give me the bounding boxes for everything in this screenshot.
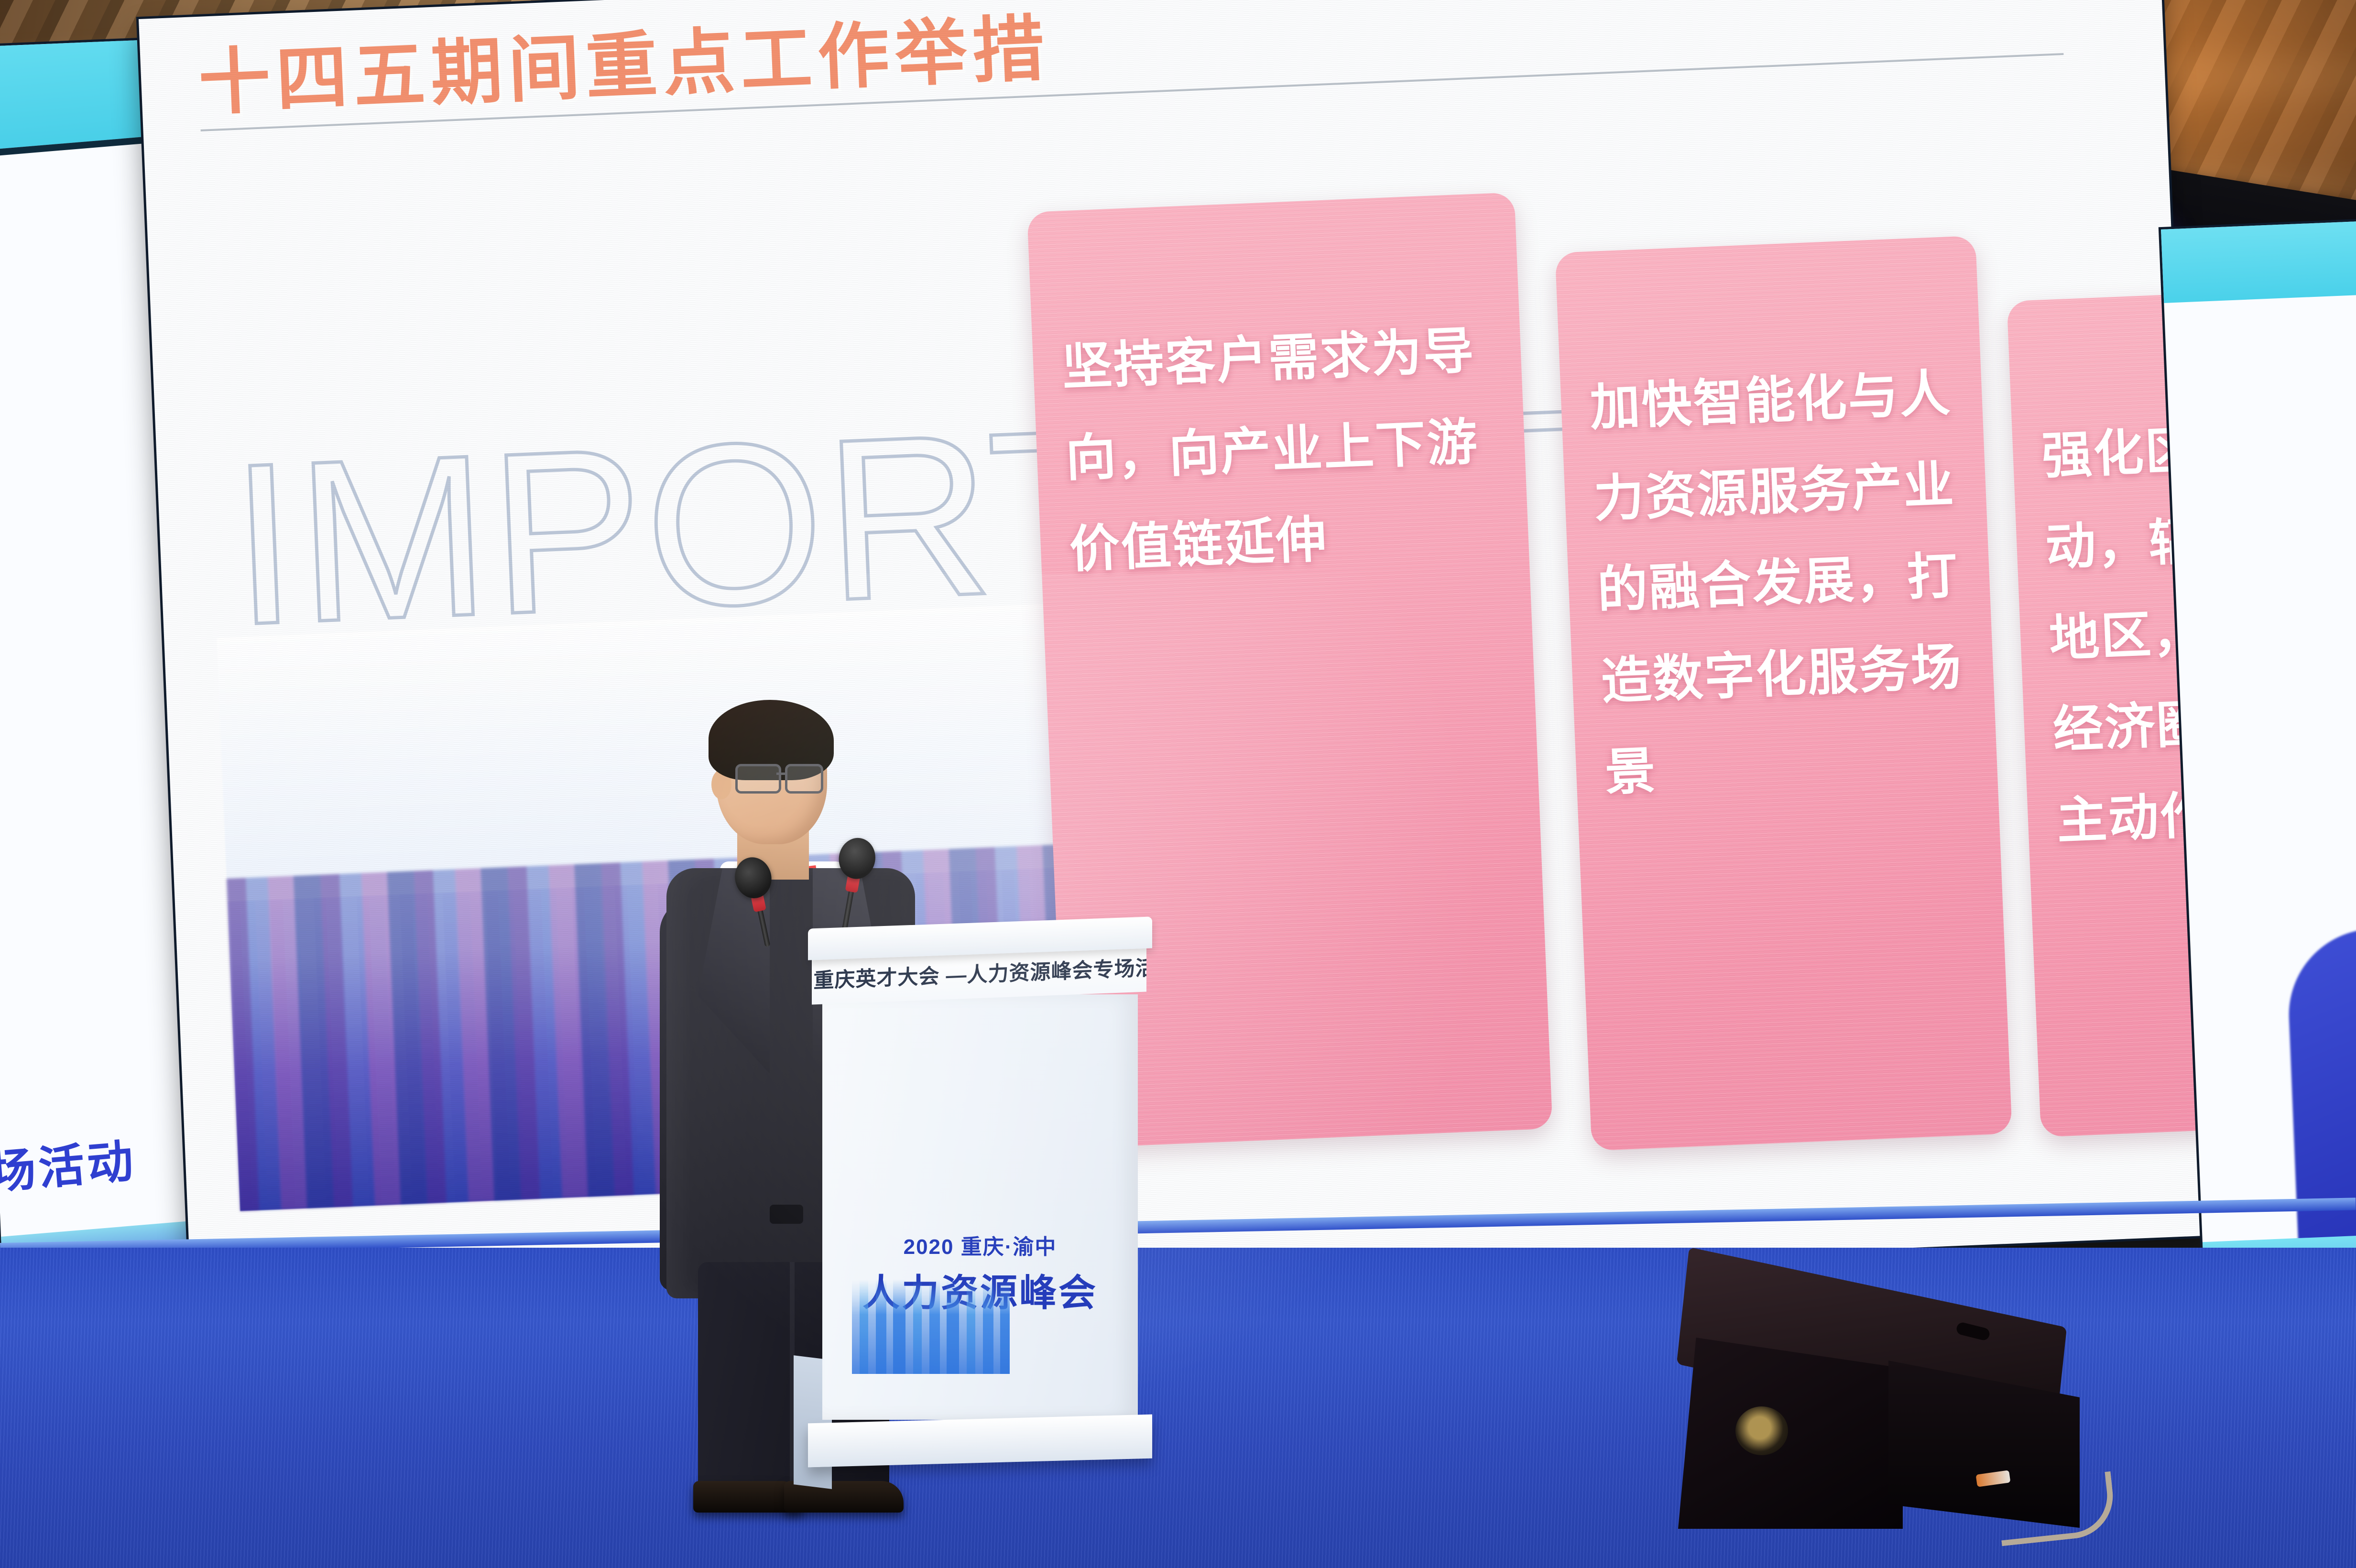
main-led-screen: 十四五期间重点工作举措 IMPORTANT FESCO · Adecco 外企德…	[139, 0, 2213, 1318]
monitor-driver-cone	[1735, 1406, 1788, 1455]
measure-card-1-text: 坚持客户需求为导向，向产业上下游价值链延伸	[1060, 304, 1507, 596]
podium-body: 2020 重庆·渝中 人力资源峰会	[822, 994, 1138, 1420]
side-screen-partial-text: 专场活动	[0, 1119, 192, 1206]
speaker-glasses	[735, 764, 831, 790]
podium: 2020 重庆·渝中 人力资源峰会 重庆英才大会 —人力资源峰会专场活动	[808, 923, 1152, 1511]
cyan-band-top-right	[2161, 221, 2356, 304]
measure-card-2: 加快智能化与人力资源服务产业的融合发展，打造数字化服务场景	[1555, 236, 2012, 1151]
conference-stage-photo: 专场活动 十四五期间重点工作举措 IMPORTANT FESCO · Adecc…	[0, 0, 2356, 1568]
stage-monitor-speaker	[1664, 1272, 2113, 1539]
podium-base	[808, 1415, 1152, 1468]
measure-cards-group: 坚持客户需求为导向，向产业上下游价值链延伸 加快智能化与人力资源服务产业的融合发…	[139, 0, 2213, 1318]
speaker-clip-mic	[770, 1205, 803, 1224]
blue-shape-right	[2286, 926, 2356, 1267]
podium-front-line1: 2020 重庆·渝中	[822, 1230, 1138, 1260]
measure-card-2-text: 加快智能化与人力资源服务产业的融合发展，打造数字化服务场景	[1588, 348, 1976, 819]
podium-skyline-graphic	[852, 1264, 1010, 1374]
monitor-cable	[1996, 1471, 2117, 1546]
